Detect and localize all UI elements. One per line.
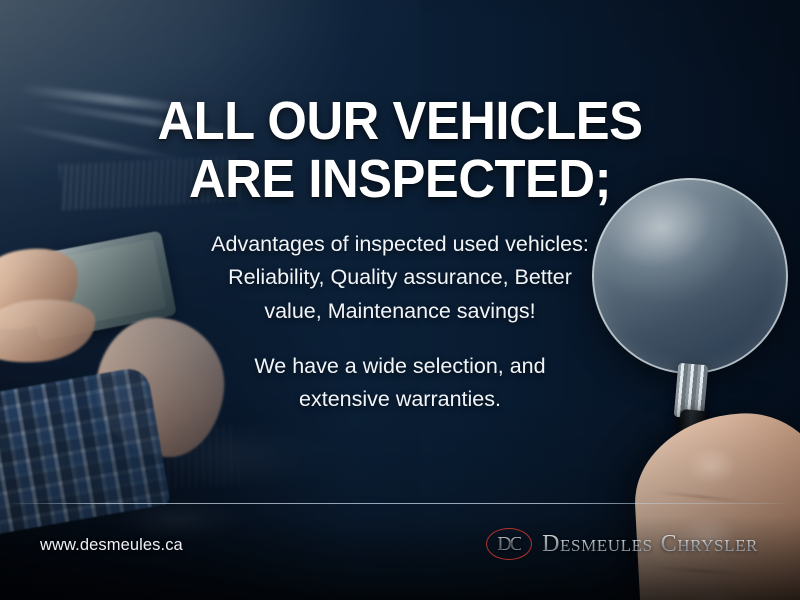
promo-banner: ALL OUR VEHICLES ARE INSPECTED; Advantag… — [0, 0, 800, 600]
body-line: Advantages of inspected used vehicles: — [120, 228, 680, 261]
website-url[interactable]: www.desmeules.ca — [40, 536, 183, 555]
body-paragraph-2: We have a wide selection, and extensive … — [120, 350, 680, 417]
body-line: Reliability, Quality assurance, Better — [120, 261, 680, 294]
body-line: extensive warranties. — [120, 383, 680, 416]
banner-content: ALL OUR VEHICLES ARE INSPECTED; Advantag… — [0, 0, 800, 600]
desmeules-chrysler-logo[interactable]: DC DesmeulesChrysler — [486, 528, 758, 560]
headline: ALL OUR VEHICLES ARE INSPECTED; — [24, 92, 776, 209]
dc-monogram-icon: DC — [486, 528, 532, 560]
logo-brand-chrysler: Chrysler — [661, 531, 758, 557]
body-line: We have a wide selection, and — [120, 350, 680, 383]
logo-brand-desmeules: Desmeules — [542, 531, 653, 557]
body-line: value, Maintenance savings! — [120, 295, 680, 328]
monogram-letters: DC — [497, 533, 521, 556]
body-copy: Advantages of inspected used vehicles: R… — [120, 228, 680, 417]
body-paragraph-1: Advantages of inspected used vehicles: R… — [120, 228, 680, 328]
headline-line-1: ALL OUR VEHICLES — [24, 92, 776, 150]
footer-divider — [8, 503, 792, 504]
logo-wordmark: DesmeulesChrysler — [542, 532, 758, 556]
headline-line-2: ARE INSPECTED; — [24, 150, 776, 208]
